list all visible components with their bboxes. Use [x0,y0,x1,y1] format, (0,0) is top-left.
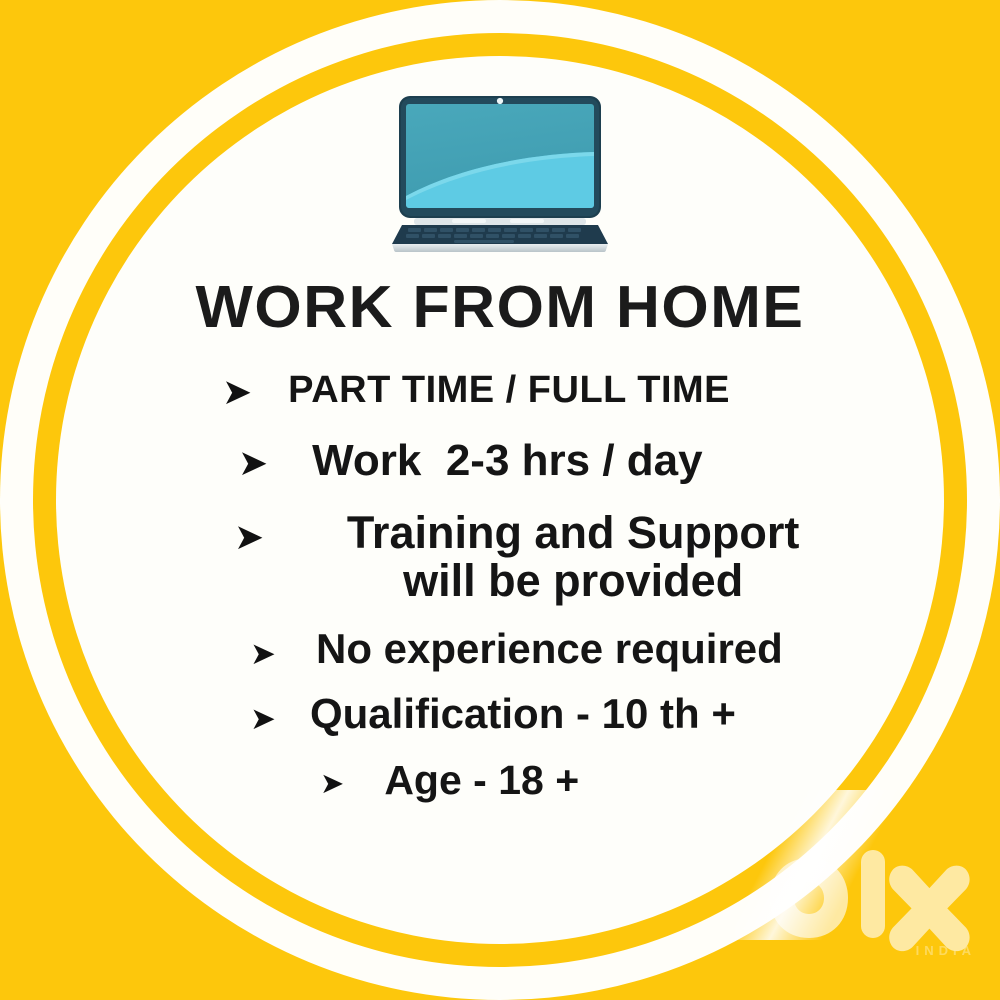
olx-watermark: INDIA [762,844,982,964]
list-item-label: Age - 18 + [384,758,579,802]
arrow-bullet-icon: ➤ [250,638,276,669]
list-item-label: Training and Support will be provided [308,509,838,606]
list-item-label: Work 2-3 hrs / day [312,437,702,485]
list-item-label: PART TIME / FULL TIME [288,370,730,411]
page-title: WORK FROM HOME [0,278,1000,337]
arrow-bullet-icon: ➤ [320,770,344,799]
arrow-bullet-icon: ➤ [234,519,264,555]
benefits-list: ➤ PART TIME / FULL TIME ➤ Work 2-3 hrs /… [0,370,1000,803]
list-item: ➤ Age - 18 + [320,758,1000,802]
arrow-bullet-icon: ➤ [250,703,276,734]
list-item: ➤ PART TIME / FULL TIME [222,370,1000,411]
arrow-bullet-icon: ➤ [222,374,252,410]
list-item-label: Qualification - 10 th + [310,691,736,736]
list-item: ➤ No experience required [250,626,1000,671]
work-from-home-poster: WORK FROM HOME ➤ PART TIME / FULL TIME ➤… [0,0,1000,1000]
laptop-icon [392,92,608,252]
list-item: ➤ Training and Support will be provided [234,509,1000,606]
list-item-label: No experience required [316,626,783,671]
list-item: ➤ Work 2-3 hrs / day [238,437,1000,485]
list-item: ➤ Qualification - 10 th + [250,691,1000,736]
poster-content: WORK FROM HOME ➤ PART TIME / FULL TIME ➤… [0,0,1000,1000]
arrow-bullet-icon: ➤ [238,445,268,481]
olx-watermark-sub: INDIA [916,943,976,958]
